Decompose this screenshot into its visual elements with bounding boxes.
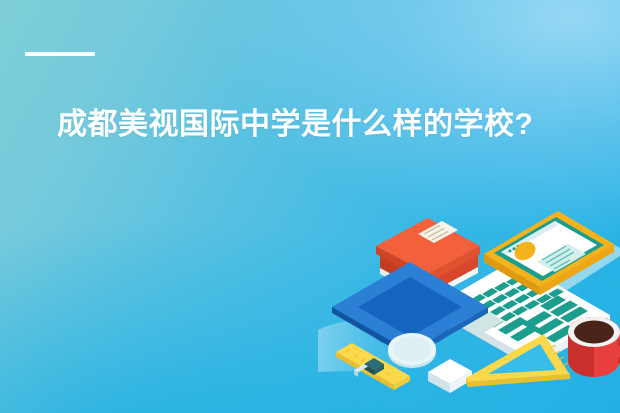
accent-rule (25, 52, 95, 56)
promo-banner: 成都美视国际中学是什么样的学校? (0, 0, 620, 413)
coffee-mug-icon (568, 317, 620, 377)
education-illustration (318, 182, 620, 413)
page-title: 成都美视国际中学是什么样的学校? (57, 106, 533, 144)
